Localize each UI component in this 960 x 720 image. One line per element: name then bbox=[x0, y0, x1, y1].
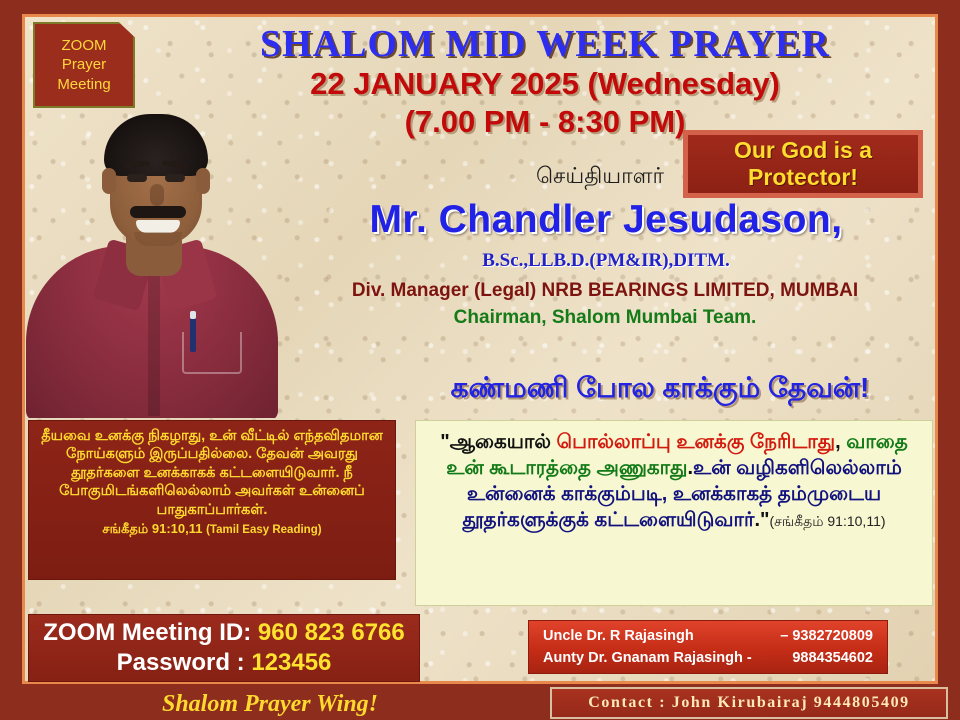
speaker-name: Mr. Chandler Jesudason, bbox=[286, 198, 926, 242]
contact-row: Aunty Dr. Gnanam Rajasingh - 9884354602 bbox=[543, 647, 873, 669]
scripture-left-reference: சங்கீதம் 91:10,11 (Tamil Easy Reading) bbox=[37, 521, 387, 538]
poster-title: SHALOM MID WEEK PRAYER bbox=[150, 22, 940, 66]
photo-nose bbox=[150, 184, 164, 206]
scripture-left-ref-tamil: சங்கீதம் 91:10,11 bbox=[102, 521, 202, 536]
poster-root: ZOOM Prayer Meeting SHALOM MID WEEK PRAY… bbox=[0, 0, 960, 720]
photo-chin bbox=[134, 232, 182, 246]
photo-eye-left bbox=[127, 174, 147, 182]
scripture-right-seg-3: , bbox=[835, 431, 846, 453]
zoom-password-row: Password : 123456 bbox=[117, 648, 332, 678]
zoom-badge-line-1: ZOOM bbox=[62, 36, 107, 55]
scripture-box-right: "ஆகையால் பொல்லாப்பு உனக்கு நேரிடாது, வாத… bbox=[415, 420, 933, 606]
contact-number: 9884354602 bbox=[792, 647, 873, 669]
zoom-meeting-id-row: ZOOM Meeting ID: 960 823 6766 bbox=[43, 618, 404, 648]
photo-shirt-placket bbox=[148, 266, 160, 416]
zoom-badge-line-2: Prayer bbox=[62, 55, 106, 74]
contact-bar: Contact : John Kirubairaj 9444805409 bbox=[550, 687, 948, 719]
photo-ear-right bbox=[196, 168, 210, 194]
tamil-headline: கண்மணி போல காக்கும் தேவன்! bbox=[380, 372, 940, 408]
photo-moustache bbox=[130, 206, 186, 218]
zoom-badge-line-3: Meeting bbox=[57, 75, 110, 94]
zoom-password-value: 123456 bbox=[251, 649, 331, 676]
speaker-photo bbox=[22, 96, 284, 418]
event-date: 22 JANUARY 2025 (Wednesday) bbox=[150, 66, 940, 102]
zoom-meeting-id-value: 960 823 6766 bbox=[258, 619, 405, 646]
contact-number: – 9382720809 bbox=[780, 625, 873, 647]
speaker-label-tamil: செய்தியாளர் bbox=[300, 163, 900, 192]
speaker-chairman-title: Chairman, Shalom Mumbai Team. bbox=[270, 307, 940, 329]
contact-row: Uncle Dr. R Rajasingh – 9382720809 bbox=[543, 625, 873, 647]
scripture-right-seg-2: பொல்லாப்பு உனக்கு நேரிடாது bbox=[557, 431, 836, 453]
photo-ear-left bbox=[102, 168, 116, 194]
zoom-meeting-credentials: ZOOM Meeting ID: 960 823 6766 Password :… bbox=[28, 614, 420, 682]
scripture-right-seg-1: "ஆகையால் bbox=[440, 431, 556, 453]
scripture-left-text: தீயவை உனக்கு நிகழாது, உன் வீட்டில் எந்தவ… bbox=[41, 428, 383, 518]
contact-name: Uncle Dr. R Rajasingh bbox=[543, 625, 694, 647]
photo-eye-right bbox=[165, 174, 185, 182]
speaker-role: Div. Manager (Legal) NRB BEARINGS LIMITE… bbox=[270, 280, 940, 302]
protector-line-1: Our God is a bbox=[734, 137, 872, 163]
scripture-box-left: தீயவை உனக்கு நிகழாது, உன் வீட்டில் எந்தவ… bbox=[28, 420, 396, 580]
contact-name: Aunty Dr. Gnanam Rajasingh - bbox=[543, 647, 752, 669]
shalom-prayer-wing-text: Shalom Prayer Wing! bbox=[120, 691, 420, 718]
zoom-meeting-id-label: ZOOM Meeting ID: bbox=[43, 619, 251, 646]
speaker-degrees: B.Sc.,LLB.D.(PM&IR),DITM. bbox=[286, 250, 926, 272]
photo-pen bbox=[190, 318, 196, 352]
contacts-box: Uncle Dr. R Rajasingh – 9382720809 Aunty… bbox=[528, 620, 888, 674]
zoom-password-label: Password : bbox=[117, 649, 245, 676]
scripture-right-reference: (சங்கீதம் 91:10,11) bbox=[769, 513, 885, 529]
scripture-left-version: (Tamil Easy Reading) bbox=[206, 524, 321, 536]
scripture-right-seg-7: ." bbox=[754, 509, 769, 531]
